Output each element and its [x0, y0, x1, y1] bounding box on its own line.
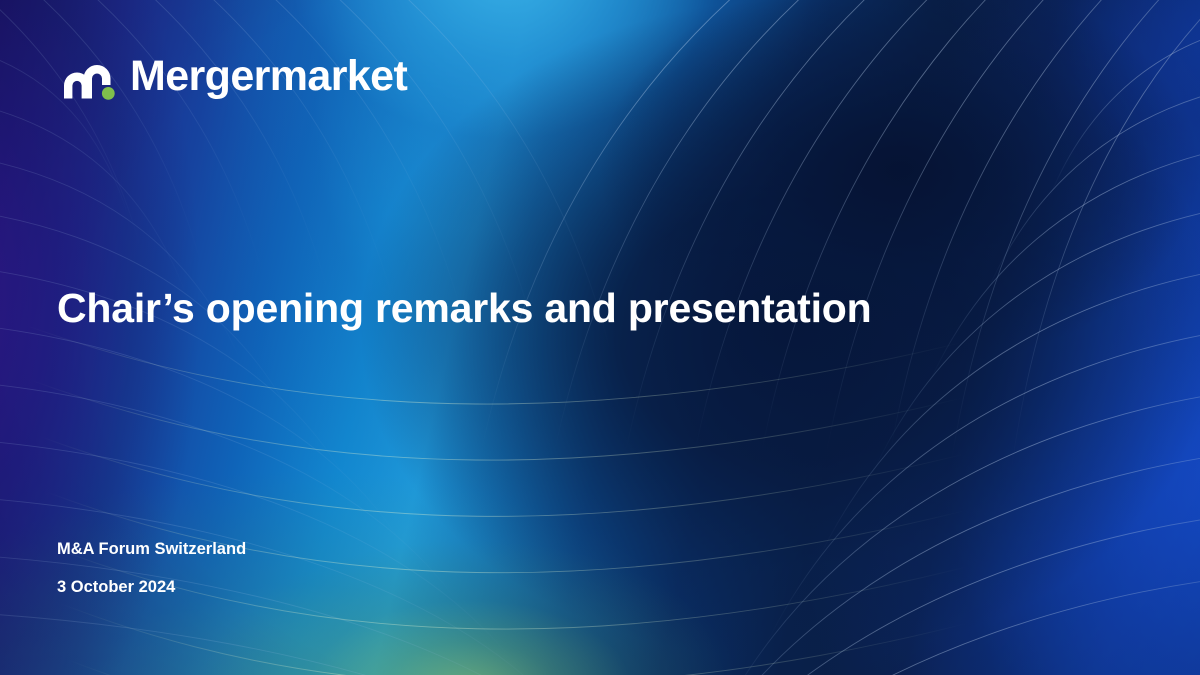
- slide-title: Chair’s opening remarks and presentation: [57, 284, 1057, 332]
- presentation-slide: Mergermarket Chair’s opening remarks and…: [0, 0, 1200, 675]
- slide-footer: M&A Forum Switzerland 3 October 2024: [57, 541, 246, 595]
- footer-date: 3 October 2024: [57, 579, 246, 596]
- brand-wordmark: Mergermarket: [130, 55, 407, 98]
- mergermarket-arch-icon: [62, 50, 118, 102]
- brand-logo: Mergermarket: [62, 50, 407, 102]
- brand-green-dot: [102, 87, 115, 100]
- footer-event-name: M&A Forum Switzerland: [57, 541, 246, 558]
